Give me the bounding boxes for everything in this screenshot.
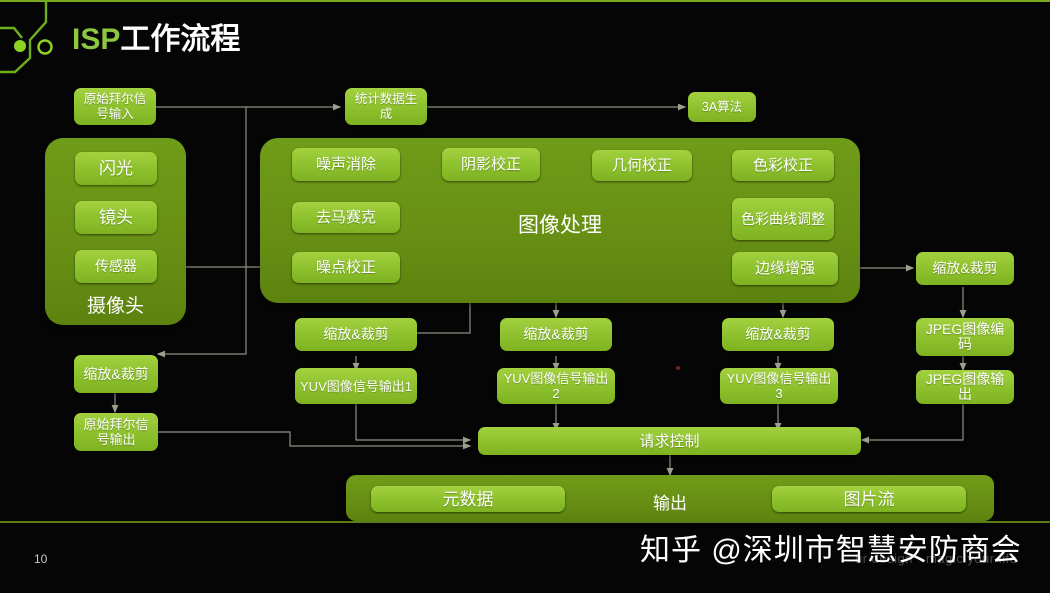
node-label: 原始拜尔信号输入 [78, 92, 152, 122]
node-color-correction[interactable]: 色彩校正 [732, 150, 834, 181]
node-jpeg-output[interactable]: JPEG图像输出 [916, 370, 1014, 404]
node-noise-removal[interactable]: 噪声消除 [292, 148, 400, 181]
node-scale-crop-3[interactable]: 缩放&裁剪 [722, 318, 834, 351]
node-label: 元数据 [443, 492, 494, 507]
group-image-processing-label-text: 图像处理 [518, 214, 602, 237]
node-label: 噪点校正 [316, 260, 376, 275]
node-yuv-output-2[interactable]: YUV图像信号输出2 [497, 368, 615, 404]
node-yuv-output-3[interactable]: YUV图像信号输出3 [720, 368, 838, 404]
node-label: 去马赛克 [316, 210, 376, 225]
node-label: YUV图像信号输出2 [501, 371, 611, 401]
node-label: 边缘增强 [755, 261, 815, 276]
node-label: 缩放&裁剪 [932, 261, 997, 276]
node-label: 缩放&裁剪 [523, 327, 588, 342]
node-lens[interactable]: 镜头 [75, 201, 157, 234]
node-label: 几何校正 [612, 158, 672, 173]
node-label: 镜头 [99, 210, 133, 225]
node-flash[interactable]: 闪光 [75, 152, 157, 185]
page-title: ISP工作流程 [72, 20, 240, 60]
node-scale-crop-left[interactable]: 缩放&裁剪 [74, 355, 158, 393]
node-scale-crop-1[interactable]: 缩放&裁剪 [295, 318, 417, 351]
top-border-line [0, 0, 1050, 2]
node-scale-crop-2[interactable]: 缩放&裁剪 [500, 318, 612, 351]
node-scale-crop-right[interactable]: 缩放&裁剪 [916, 252, 1014, 285]
page-number: 10 [34, 552, 47, 566]
node-label: 阴影校正 [461, 157, 521, 172]
node-label: 色彩校正 [753, 158, 813, 173]
node-noise-point-correction[interactable]: 噪点校正 [292, 252, 400, 283]
node-label: 原始拜尔信号输出 [78, 417, 154, 447]
node-label: 噪声消除 [316, 157, 376, 172]
node-label: 图片流 [844, 492, 895, 507]
node-metadata[interactable]: 元数据 [371, 486, 565, 512]
output-panel-label-text: 输出 [653, 494, 687, 513]
node-image-stream[interactable]: 图片流 [772, 486, 966, 512]
node-label: 请求控制 [639, 434, 699, 449]
node-label: 缩放&裁剪 [83, 367, 148, 382]
node-label: JPEG图像输出 [920, 372, 1010, 402]
node-label: 缩放&裁剪 [323, 327, 388, 342]
node-label: 缩放&裁剪 [745, 327, 810, 342]
node-edge-enhancement[interactable]: 边缘增强 [732, 252, 838, 285]
node-demosaic[interactable]: 去马赛克 [292, 202, 400, 233]
node-label: 色彩曲线调整 [741, 212, 825, 227]
node-sensor[interactable]: 传感器 [75, 250, 157, 283]
node-stats-generation[interactable]: 统计数据生成 [345, 88, 427, 125]
node-request-control[interactable]: 请求控制 [478, 427, 861, 455]
group-camera-label-text: 摄像头 [87, 296, 144, 317]
node-raw-bayer-output[interactable]: 原始拜尔信号输出 [74, 413, 158, 451]
node-label: 3A算法 [702, 100, 742, 115]
bottom-border-line [0, 521, 1050, 523]
node-yuv-output-1[interactable]: YUV图像信号输出1 [295, 368, 417, 404]
page-title-rest: 工作流程 [120, 23, 240, 56]
node-color-curve-adjust[interactable]: 色彩曲线调整 [732, 198, 834, 240]
node-raw-bayer-input[interactable]: 原始拜尔信号输入 [74, 88, 156, 125]
node-label: YUV图像信号输出1 [300, 379, 412, 394]
slide-canvas: ISP工作流程 [0, 0, 1050, 593]
node-3a-algorithm[interactable]: 3A算法 [688, 92, 756, 122]
stray-dot-marker [676, 366, 680, 370]
group-camera-label: 摄像头 [45, 291, 186, 318]
group-image-processing-label: 图像处理 [430, 209, 690, 239]
node-shadow-correction[interactable]: 阴影校正 [442, 148, 540, 181]
node-label: 传感器 [95, 259, 137, 274]
page-title-accent: ISP [72, 23, 120, 56]
node-label: 闪光 [99, 161, 133, 176]
node-jpeg-encode[interactable]: JPEG图像编码 [916, 318, 1014, 356]
watermark: 知乎 @深圳市智慧安防商会 [640, 525, 1022, 569]
output-panel-label: 输出 [600, 489, 740, 514]
node-label: YUV图像信号输出3 [724, 371, 834, 401]
node-geometric-correction[interactable]: 几何校正 [592, 150, 692, 181]
node-label: 统计数据生成 [349, 92, 423, 122]
node-label: JPEG图像编码 [920, 322, 1010, 352]
